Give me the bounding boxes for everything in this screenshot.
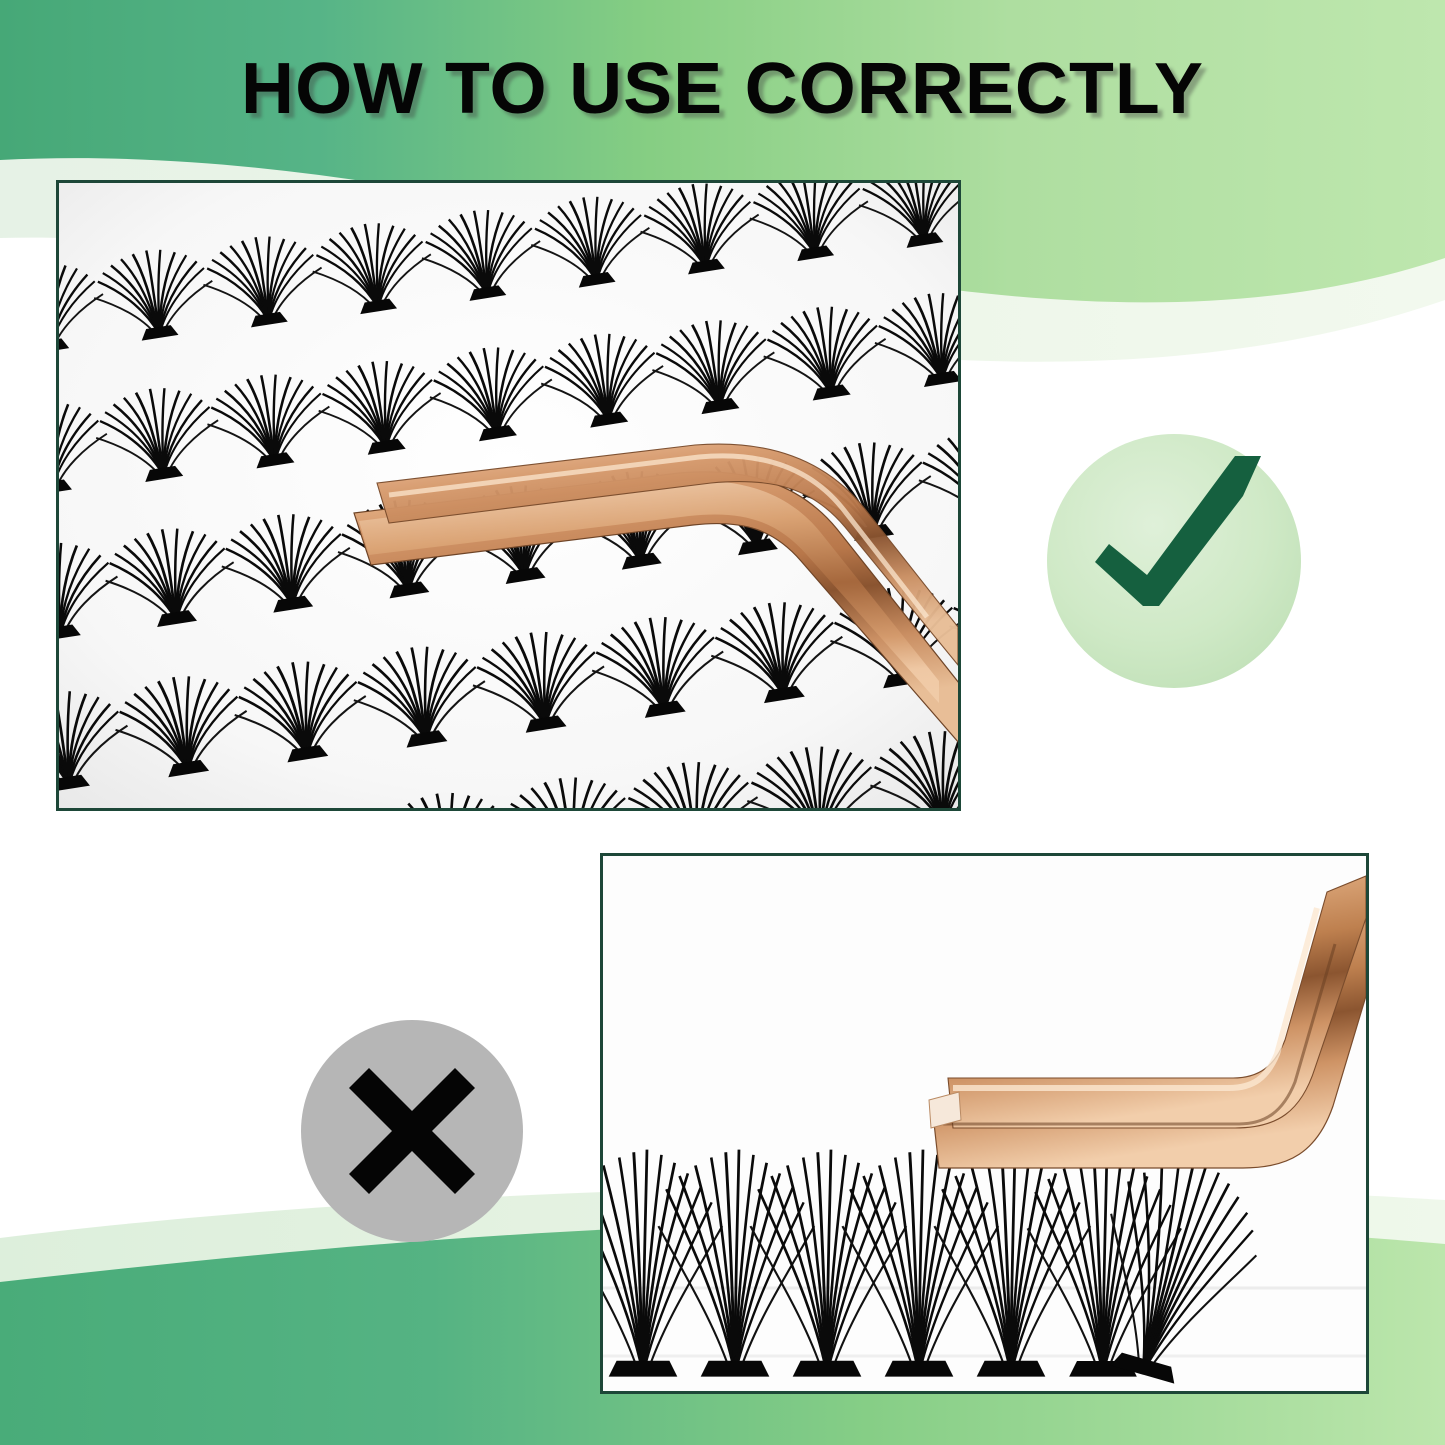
cross-icon xyxy=(301,1020,523,1242)
check-icon xyxy=(1047,434,1301,688)
correct-usage-photo xyxy=(56,180,961,811)
incorrect-photo-image xyxy=(603,856,1366,1391)
correct-photo-image xyxy=(59,183,958,808)
infographic-canvas: HOW TO USE CORRECTLY xyxy=(0,0,1445,1445)
cross-mark-glyph xyxy=(301,1020,523,1242)
page-title: HOW TO USE CORRECTLY xyxy=(0,48,1445,130)
check-mark-glyph xyxy=(1047,434,1301,688)
incorrect-usage-photo xyxy=(600,853,1369,1394)
